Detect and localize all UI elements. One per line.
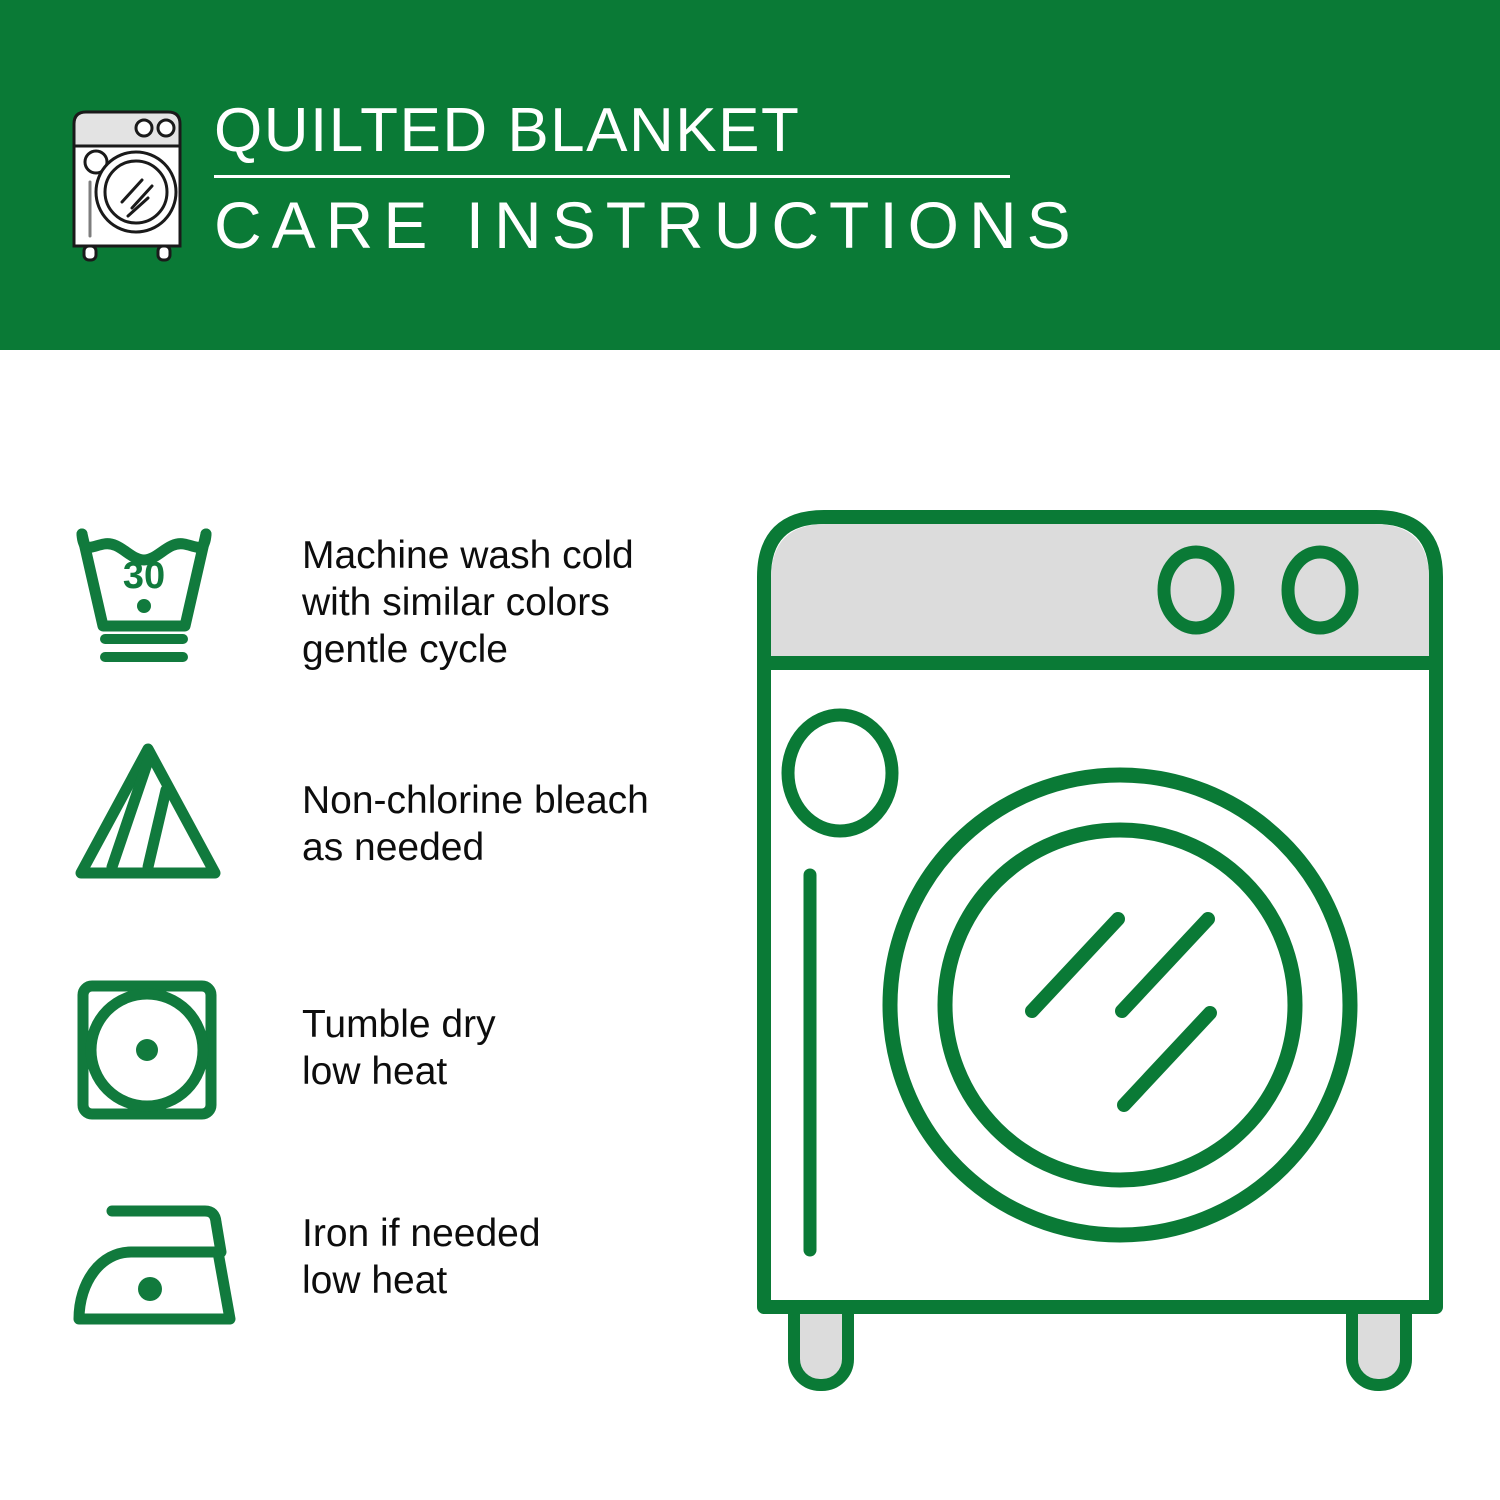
care-instructions-page: QUILTED BLANKET CARE INSTRUCTIONS 30 Mac…: [0, 0, 1500, 1500]
tumble-dry-low-heat-icon: [70, 975, 240, 1125]
care-row-wash: 30 Machine wash cold with similar colors…: [70, 520, 710, 673]
care-text-dry: Tumble dry low heat: [240, 975, 496, 1095]
washing-machine-icon: [62, 100, 192, 265]
care-row-dry: Tumble dry low heat: [70, 975, 710, 1125]
care-text-wash: Machine wash cold with similar colors ge…: [240, 520, 634, 673]
header-text-block: QUILTED BLANKET CARE INSTRUCTIONS: [214, 95, 1014, 262]
page-title: QUILTED BLANKET: [214, 95, 1014, 167]
care-row-iron: Iron if needed low heat: [70, 1190, 710, 1340]
title-divider: [214, 175, 1010, 178]
care-text-iron: Iron if needed low heat: [240, 1190, 541, 1304]
front-load-washing-machine-illustration: [740, 495, 1460, 1415]
bleach-triangle-non-chlorine-icon: [70, 735, 240, 885]
header-band: QUILTED BLANKET CARE INSTRUCTIONS: [0, 0, 1500, 350]
page-subtitle: CARE INSTRUCTIONS: [214, 188, 1014, 262]
care-text-bleach: Non-chlorine bleach as needed: [240, 735, 649, 871]
care-row-bleach: Non-chlorine bleach as needed: [70, 735, 710, 885]
iron-low-heat-icon: [70, 1190, 240, 1340]
wash-temperature-value: 30: [123, 555, 165, 597]
wash-tub-30-gentle-icon: 30: [70, 520, 240, 670]
